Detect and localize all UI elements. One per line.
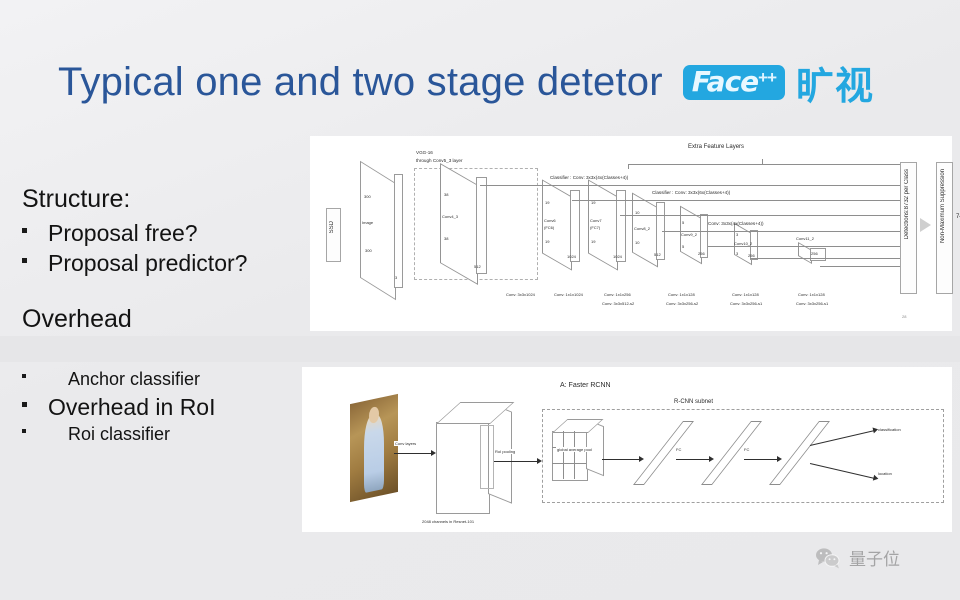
fc-arrow-1-icon [676,459,710,460]
bullet-square-icon [22,219,48,247]
photo-person [364,413,383,494]
outline-heading-overhead: Overhead [22,305,312,335]
outline-item-proposal-predictor: Proposal predictor? [22,249,312,277]
slide-title-row: Typical one and two stage detetor Face +… [58,55,874,110]
fc-label-1: FC [676,447,681,452]
bullet-square-icon [22,423,68,446]
result-map: 74.3mAP [956,214,960,220]
classifier-4b-label: Conv: 3x3x(4x(Classes+4)) [708,221,764,226]
conv-caption-6b: Conv: 3x3x256-s1 [796,301,828,306]
rcnn-subnet-label: R-CNN subnet [674,399,713,405]
ssd-model-tag: SSD [326,208,341,262]
facepp-logo: Face ++ [683,65,785,100]
watermark: 量子位 [815,545,900,570]
outline-subitem-roi-classifier: Roi classifier [22,423,312,446]
outline-item-proposal-free: Proposal free? [22,219,312,247]
facepp-logo-name: Face [692,68,758,96]
facepp-logo-plus: ++ [758,69,776,86]
outline-item-label: Proposal free? [48,219,198,247]
page-title: Typical one and two stage detetor [58,60,663,105]
outline-subitem-label: Anchor classifier [68,368,200,391]
roi-region [480,425,494,489]
pooled-grid-front [552,431,588,481]
extra-feature-layers-label: Extra Feature Layers [688,144,744,150]
output-classification-label: classification [878,427,901,432]
conv-layers-arrow-icon [394,453,432,454]
input-image-depth [394,174,403,288]
outline-subitem-label: Roi classifier [68,423,170,446]
output-location-label: location [878,471,892,476]
conv-caption-6: Conv: 1x1x128 [798,292,825,297]
watermark-text: 量子位 [849,545,900,570]
input-photo [350,394,398,502]
fc-arrow-2-icon [744,459,778,460]
classifier-6-label: Classifier : Conv: 3x3x(6x(Classes+4)) [652,190,730,195]
detections-per-class-box: Detections:8732 per Class [900,162,917,294]
fc-label-2: FC [744,447,749,452]
faster-rcnn-figure: A: Faster RCNN R-CNN subnet Conv layers … [302,367,952,532]
nms-arrow-icon [920,218,931,232]
conv-caption-4b: Conv: 3x3x256-s2 [666,301,698,306]
ssd-architecture-figure: SSD 300 Image 300 3 VGG-16 through Conv5… [310,136,952,331]
conv-caption-5b: Conv: 3x3x256-s1 [730,301,762,306]
panel-separator [0,336,960,362]
roi-pooling-arrow-icon [494,461,538,462]
figure-page-number: 28 [902,314,906,319]
conv-caption-0: Conv: 3x3x1024 [506,292,535,297]
bullet-square-icon [22,393,48,421]
conv-caption-1: Conv: 1x1x1024 [554,292,583,297]
wechat-icon [815,547,841,569]
rcnn-figure-title: A: Faster RCNN [560,382,611,389]
conv-layers-label: Conv layers [394,441,417,446]
slide-canvas: Typical one and two stage detetor Face +… [0,0,960,600]
outline-spacer [22,279,312,305]
conv-caption-3b: Conv: 3x3x512-s2 [602,301,634,306]
outline-heading-structure: Structure: [22,185,312,215]
megvii-cn-logo: 旷视 [796,55,874,110]
outline-subitem-anchor-classifier: Anchor classifier [22,368,312,391]
outline-item-label: Overhead in RoI [48,393,215,421]
outline-item-label: Proposal predictor? [48,249,247,277]
channels-caption: 2048 channels in Resnet-101 [422,519,474,524]
bullet-square-icon [22,249,48,277]
non-maximum-suppression-box: Non-Maximum Suppression [936,162,953,294]
global-avg-pool-arrow-icon [602,459,640,460]
outline-item-overhead-roi: Overhead in RoI [22,393,312,421]
conv-caption-2: Conv: 1x1x256 [604,292,631,297]
bullet-square-icon [22,368,68,391]
outline-text-block: Structure: Proposal free? Proposal predi… [22,185,312,447]
global-average-pool-label: global average pool [556,447,593,452]
layer-depth-conv4_3 [476,177,487,274]
conv-caption-5: Conv: 1x1x128 [732,292,759,297]
input-image-plate [360,161,396,300]
layer-block-conv4_3 [440,163,478,285]
conv-caption-4: Conv: 1x1x128 [668,292,695,297]
roi-pooling-label: RoI pooling [494,449,516,454]
classifier-4-label: Classifier : Conv: 3x3x(4x(Classes+4)) [550,175,628,180]
